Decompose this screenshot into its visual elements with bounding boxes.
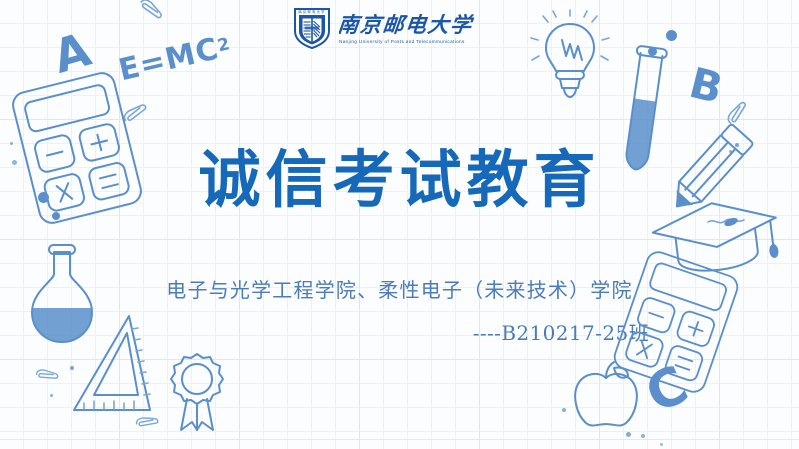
decorative-dot bbox=[648, 47, 657, 56]
decorative-dot bbox=[50, 394, 53, 397]
university-logo: 南京邮电大学 南京邮电大学 Nanjing University of Post… bbox=[292, 6, 499, 50]
apple-icon bbox=[570, 360, 642, 432]
decorative-dot bbox=[38, 192, 49, 203]
decorative-dot bbox=[10, 142, 13, 145]
paperclip-icon bbox=[33, 367, 62, 383]
formula-emc2-glyph: E=MC2 bbox=[116, 32, 233, 87]
svg-text:南京邮电大学: 南京邮电大学 bbox=[339, 12, 475, 37]
decorative-dot bbox=[666, 30, 677, 41]
paperclip-icon bbox=[134, 0, 168, 24]
university-name-cn-icon: 南京邮电大学 bbox=[339, 12, 499, 38]
letter-b-glyph: B bbox=[685, 62, 726, 110]
decorative-dot bbox=[626, 432, 631, 437]
triangle-ruler-icon bbox=[70, 313, 156, 418]
lightbulb-icon bbox=[530, 14, 610, 106]
formula-base: E=MC bbox=[115, 31, 222, 88]
presentation-slide: 南京邮电大学 南京邮电大学 Nanjing University of Post… bbox=[0, 0, 799, 449]
university-shield-icon: 南京邮电大学 bbox=[292, 6, 332, 50]
award-ribbon-icon bbox=[168, 352, 226, 434]
decorative-dot bbox=[562, 408, 566, 412]
decorative-dot bbox=[12, 160, 17, 165]
logo-wordmark: 南京邮电大学 Nanjing University of Posts and T… bbox=[339, 12, 499, 44]
decorative-dot bbox=[52, 212, 60, 220]
decorative-dot bbox=[660, 443, 663, 446]
decorative-dot bbox=[641, 434, 645, 438]
university-name-en: Nanjing University of Posts and Telecomm… bbox=[339, 39, 499, 44]
bottom-divider bbox=[0, 439, 799, 440]
svg-text:南京邮电大学: 南京邮电大学 bbox=[298, 9, 326, 14]
